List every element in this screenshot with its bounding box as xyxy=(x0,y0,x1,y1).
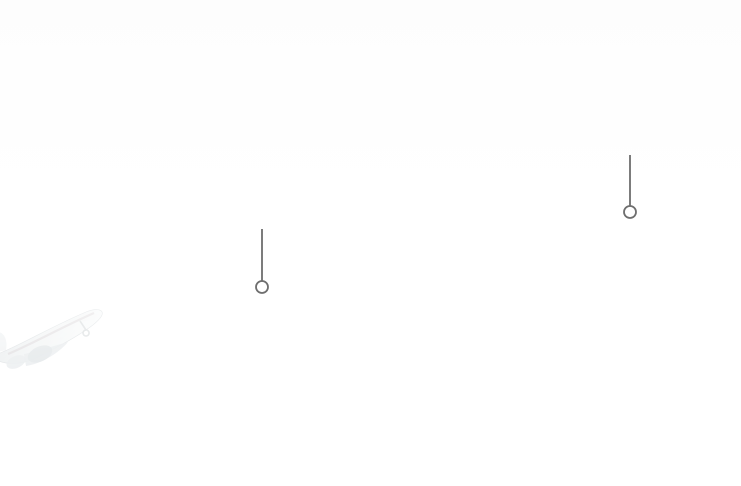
infographic-root xyxy=(0,0,741,486)
x-axis-labels xyxy=(0,424,741,458)
chart-canvas xyxy=(0,0,741,486)
